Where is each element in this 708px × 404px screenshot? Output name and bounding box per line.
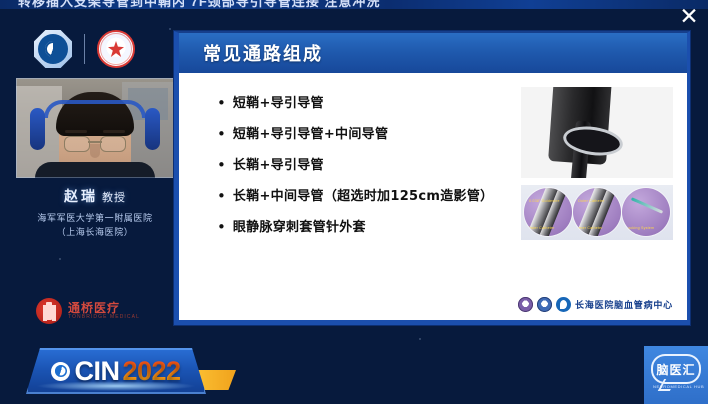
speaker-video-tile[interactable] (16, 78, 174, 178)
slide-frame: 常见通路组成 • 短鞘+导引导管 • 短鞘+导引导管+中间导管 • 长鞘+导引导… (174, 31, 690, 325)
bullet-text: 短鞘+导引导管 (233, 95, 324, 112)
event-banner: CIN 2022 (26, 348, 206, 394)
logo-divider (84, 34, 85, 64)
slide-credit-text: 长海医院脑血管病中心 (575, 298, 673, 311)
speaker-name: 赵瑞教授 (16, 186, 174, 206)
brand-bubble-text: 脑医汇 (656, 361, 695, 378)
list-item: • 长鞘+导引导管 (217, 157, 507, 174)
list-item: • 短鞘+导引导管+中间导管 (217, 126, 507, 143)
bullet-text: 短鞘+导引导管+中间导管 (233, 126, 388, 143)
credit-logo-1-icon (518, 297, 533, 312)
credit-logo-3-icon (556, 297, 571, 312)
bullet-note: （超选时加125cm造影管） (324, 188, 494, 205)
close-icon[interactable]: ✕ (676, 4, 702, 30)
bullet-text: 长鞘+中间导管 (233, 188, 324, 205)
slide-credit: 长海医院脑血管病中心 (518, 297, 673, 312)
bullet-list: • 短鞘+导引导管 • 短鞘+导引导管+中间导管 • 长鞘+导引导管 • 长鞘+… (217, 95, 507, 250)
slide-body: • 短鞘+导引导管 • 短鞘+导引导管+中间导管 • 长鞘+导引导管 • 长鞘+… (179, 73, 687, 320)
triptych-label: 0.038" Guidewire (529, 199, 560, 203)
catheter-system-triptych-photo: 0.038" Guidewire Outer Catheter Outer Ca… (521, 185, 673, 240)
header-logo-group (34, 30, 135, 68)
speaker-organization: 海军军医大学第一附属医院 （上海长海医院） (6, 212, 184, 240)
bullet-dot-icon: • (217, 95, 226, 112)
catheter-sheath-photo (521, 87, 673, 178)
triptych-label: Inner Catheter (577, 226, 603, 230)
slide-title-text: 常见通路组成 (203, 40, 323, 66)
cin-badge-icon (51, 362, 70, 381)
brand-bubble-subtext: NEUROMEDICAL HUB (653, 384, 704, 389)
triptych-panel: Locking System (622, 188, 670, 236)
speaker-org-line2: （上海长海医院） (6, 226, 184, 240)
triptych-panel: 0.038" Guidewire Outer Catheter (524, 188, 572, 236)
bullet-dot-icon: • (217, 157, 226, 174)
speaker-org-line1: 海军军医大学第一附属医院 (6, 212, 184, 226)
triptych-label: Outer Catheter (528, 226, 555, 230)
sponsor-mark-icon (36, 298, 62, 324)
top-caption-text: 转移插入支架导管到中鞘内 7F颈部导引导管连接 注意冲洗 (18, 0, 380, 9)
speaker-title-text: 教授 (102, 191, 126, 204)
list-item: • 长鞘+中间导管 （超选时加125cm造影管） (217, 188, 507, 205)
speech-bubble-icon: 脑医汇 (651, 354, 701, 384)
presentation-viewer: 转移插入支架导管到中鞘内 7F颈部导引导管连接 注意冲洗 ✕ 赵瑞教授 (0, 0, 708, 404)
banner-glow-decoration (36, 381, 196, 391)
sponsor-logo: 通桥医疗 TONBRIDGE MEDICAL (36, 298, 140, 324)
triptych-label: Locking System (626, 226, 654, 230)
list-item: • 短鞘+导引导管 (217, 95, 507, 112)
bullet-dot-icon: • (217, 126, 226, 143)
university-emblem-logo-icon (97, 30, 135, 68)
cin-octagon-logo-icon (34, 30, 72, 68)
speaker-name-text: 赵瑞 (64, 189, 98, 205)
sponsor-name-en: TONBRIDGE MEDICAL (68, 315, 140, 320)
list-item: • 眼静脉穿刺套管针外套 (217, 219, 507, 236)
credit-logo-2-icon (537, 297, 552, 312)
sponsor-name-cn: 通桥医疗 (68, 302, 140, 315)
triptych-label: Outer Catheter (578, 199, 605, 203)
triptych-panel: Outer Catheter Inner Catheter (573, 188, 621, 236)
bullet-text: 眼静脉穿刺套管针外套 (233, 219, 366, 236)
bullet-dot-icon: • (217, 219, 226, 236)
brand-bubble-logo[interactable]: 脑医汇 NEUROMEDICAL HUB (644, 346, 708, 404)
bullet-dot-icon: • (217, 188, 226, 205)
top-caption-strip: 转移插入支架导管到中鞘内 7F颈部导引导管连接 注意冲洗 (0, 0, 708, 9)
bullet-text: 长鞘+导引导管 (233, 157, 324, 174)
slide-title-bar: 常见通路组成 (179, 33, 687, 73)
